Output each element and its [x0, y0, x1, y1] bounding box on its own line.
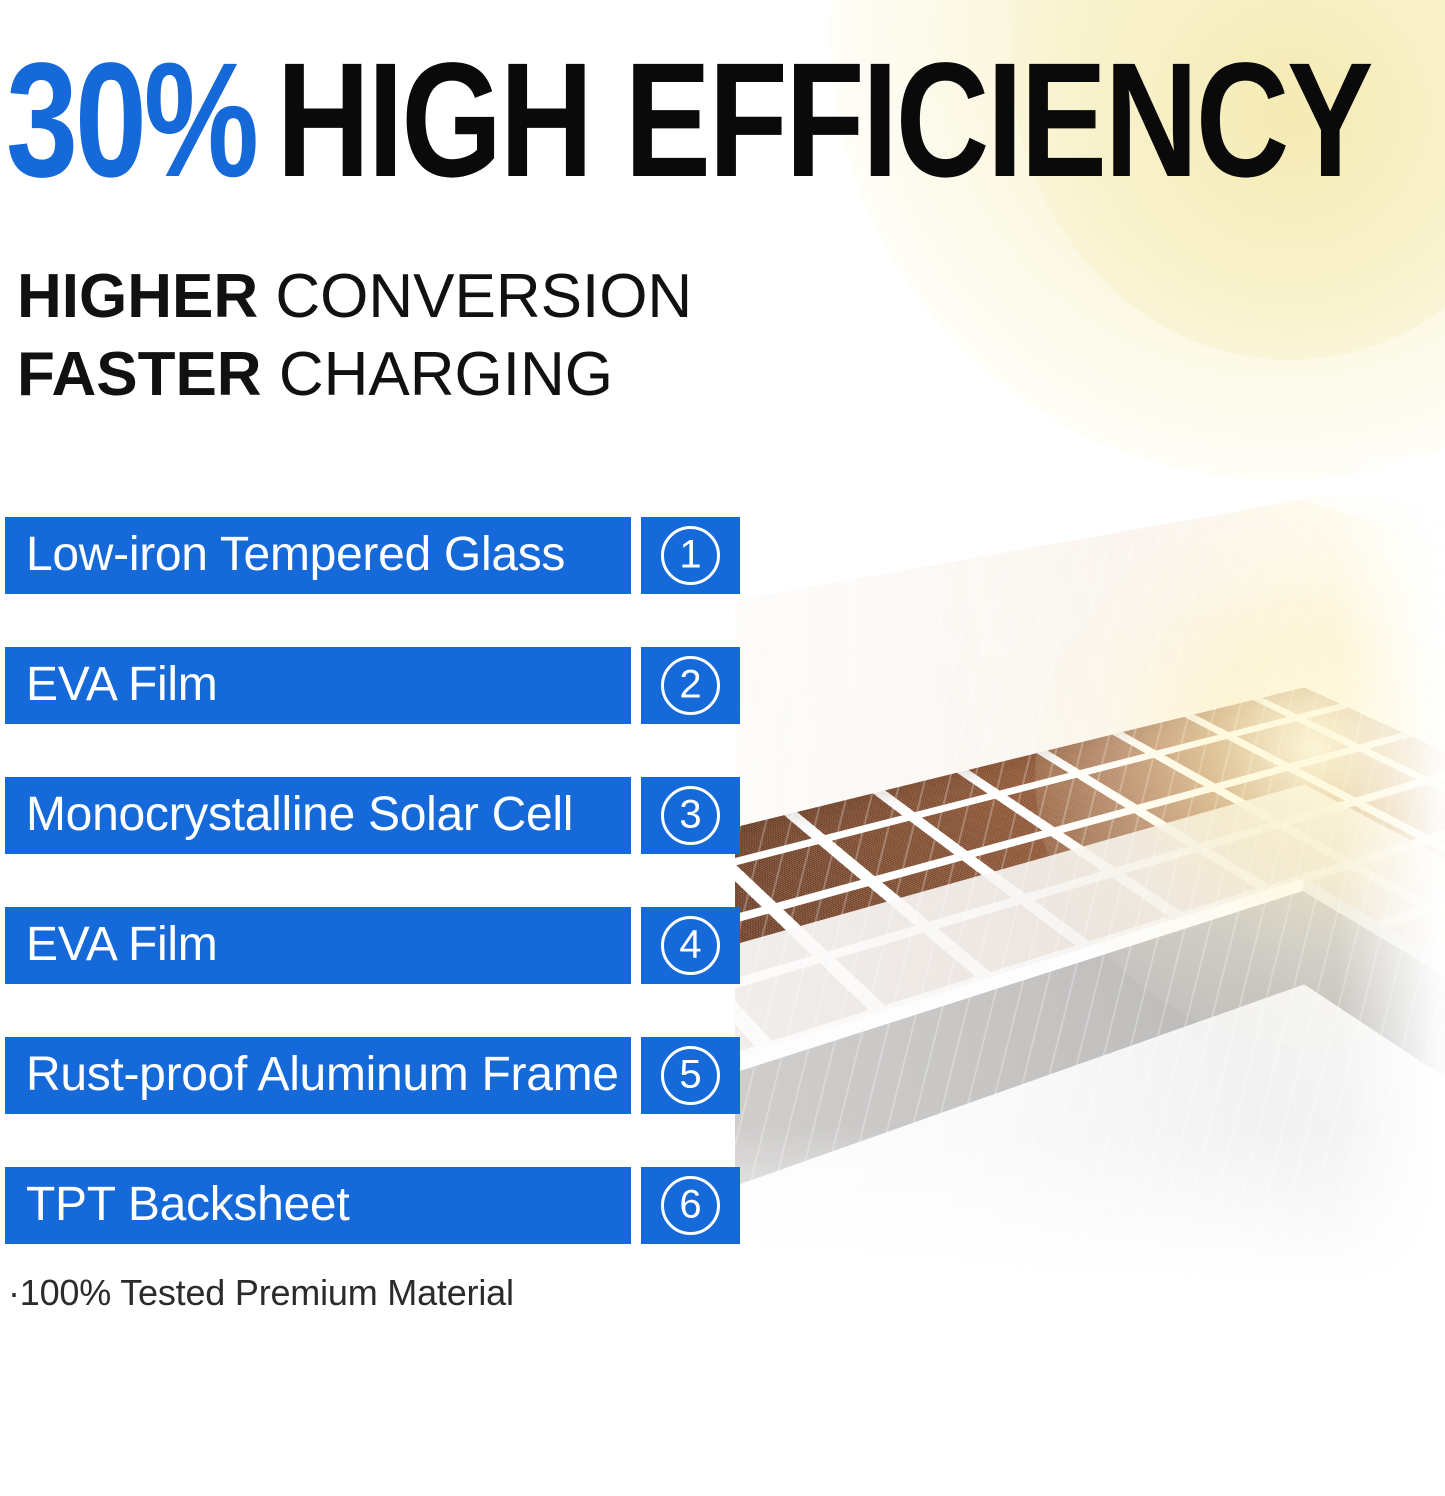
- list-item: Monocrystalline Solar Cell 3: [5, 777, 740, 854]
- layer-label-text: Monocrystalline Solar Cell: [26, 791, 573, 839]
- layer-number-text: 6: [679, 1184, 701, 1224]
- subhead-1-normal: CONVERSION: [275, 262, 692, 331]
- layer-label-text: Rust-proof Aluminum Frame: [26, 1051, 619, 1099]
- layer-label-text: EVA Film: [26, 921, 217, 969]
- layer-number-badge-6: 6: [641, 1167, 740, 1244]
- layer-art-monocrystalline-cells: [735, 533, 1445, 1273]
- list-item: TPT Backsheet 6: [5, 1167, 740, 1244]
- layer-number-text: 2: [679, 664, 701, 704]
- layer-number-badge-4: 4: [641, 907, 740, 984]
- circle-number-icon: 2: [661, 656, 720, 715]
- layer-art-tpt-backsheet: [735, 925, 1445, 1355]
- subhead-conversion: HIGHER CONVERSION: [17, 266, 1017, 328]
- layer-art-tempered-glass: [735, 455, 1445, 1025]
- layer-label-text: EVA Film: [26, 661, 217, 709]
- layer-number-badge-1: 1: [641, 517, 740, 594]
- layer-number-badge-2: 2: [641, 647, 740, 724]
- layer-label-bar-5: Rust-proof Aluminum Frame: [5, 1037, 631, 1114]
- layer-number-badge-3: 3: [641, 777, 740, 854]
- circle-number-icon: 3: [661, 786, 720, 845]
- headline-text: HIGH EFFICIENCY: [276, 38, 1371, 201]
- circle-number-icon: 1: [661, 526, 720, 585]
- layer-art-eva-film-bottom: [735, 661, 1445, 1355]
- headline-percent: 30%: [6, 38, 276, 201]
- layer-number-text: 5: [679, 1054, 701, 1094]
- layer-label-bar-2: EVA Film: [5, 647, 631, 724]
- layer-art-aluminum-frame: [735, 785, 1445, 1355]
- list-item: EVA Film 2: [5, 647, 740, 724]
- subhead-2-bold: FASTER: [17, 340, 262, 409]
- layer-label-text: TPT Backsheet: [26, 1181, 349, 1229]
- layer-number-badge-5: 5: [641, 1037, 740, 1114]
- layer-label-text: Low-iron Tempered Glass: [26, 531, 565, 579]
- page-title: 30% HIGH EFFICIENCY: [6, 38, 1135, 198]
- list-item: Low-iron Tempered Glass 1: [5, 517, 740, 594]
- list-item: Rust-proof Aluminum Frame 5: [5, 1037, 740, 1114]
- infographic-page: 30% HIGH EFFICIENCY HIGHER CONVERSION FA…: [0, 0, 1445, 1496]
- circle-number-icon: 4: [661, 916, 720, 975]
- layer-art-eva-film-top: [735, 455, 1445, 1147]
- layer-number-text: 1: [679, 534, 701, 574]
- circle-number-icon: 5: [661, 1046, 720, 1105]
- light-streaks-overlay: [735, 455, 1445, 1355]
- subhead-charging: FASTER CHARGING: [17, 344, 1017, 406]
- illustration-stage: [735, 455, 1445, 1355]
- subhead-1-bold: HIGHER: [17, 262, 258, 331]
- right-fade-overlay: [1335, 455, 1445, 1355]
- layer-label-bar-6: TPT Backsheet: [5, 1167, 631, 1244]
- layer-label-bar-3: Monocrystalline Solar Cell: [5, 777, 631, 854]
- list-item: EVA Film 4: [5, 907, 740, 984]
- layer-label-bar-4: EVA Film: [5, 907, 631, 984]
- layer-number-text: 3: [679, 794, 701, 834]
- layer-number-text: 4: [679, 924, 701, 964]
- lens-flare-icon: [1035, 495, 1445, 1055]
- subhead-2-normal: CHARGING: [279, 340, 613, 409]
- footnote-text: ·100% Tested Premium Material: [8, 1272, 514, 1314]
- exploded-solar-panel-illustration: [735, 455, 1445, 1355]
- layer-legend-list: Low-iron Tempered Glass 1 EVA Film 2 Mon…: [5, 517, 740, 1244]
- circle-number-icon: 6: [661, 1176, 720, 1235]
- layer-label-bar-1: Low-iron Tempered Glass: [5, 517, 631, 594]
- bottom-fade-overlay: [735, 1125, 1445, 1355]
